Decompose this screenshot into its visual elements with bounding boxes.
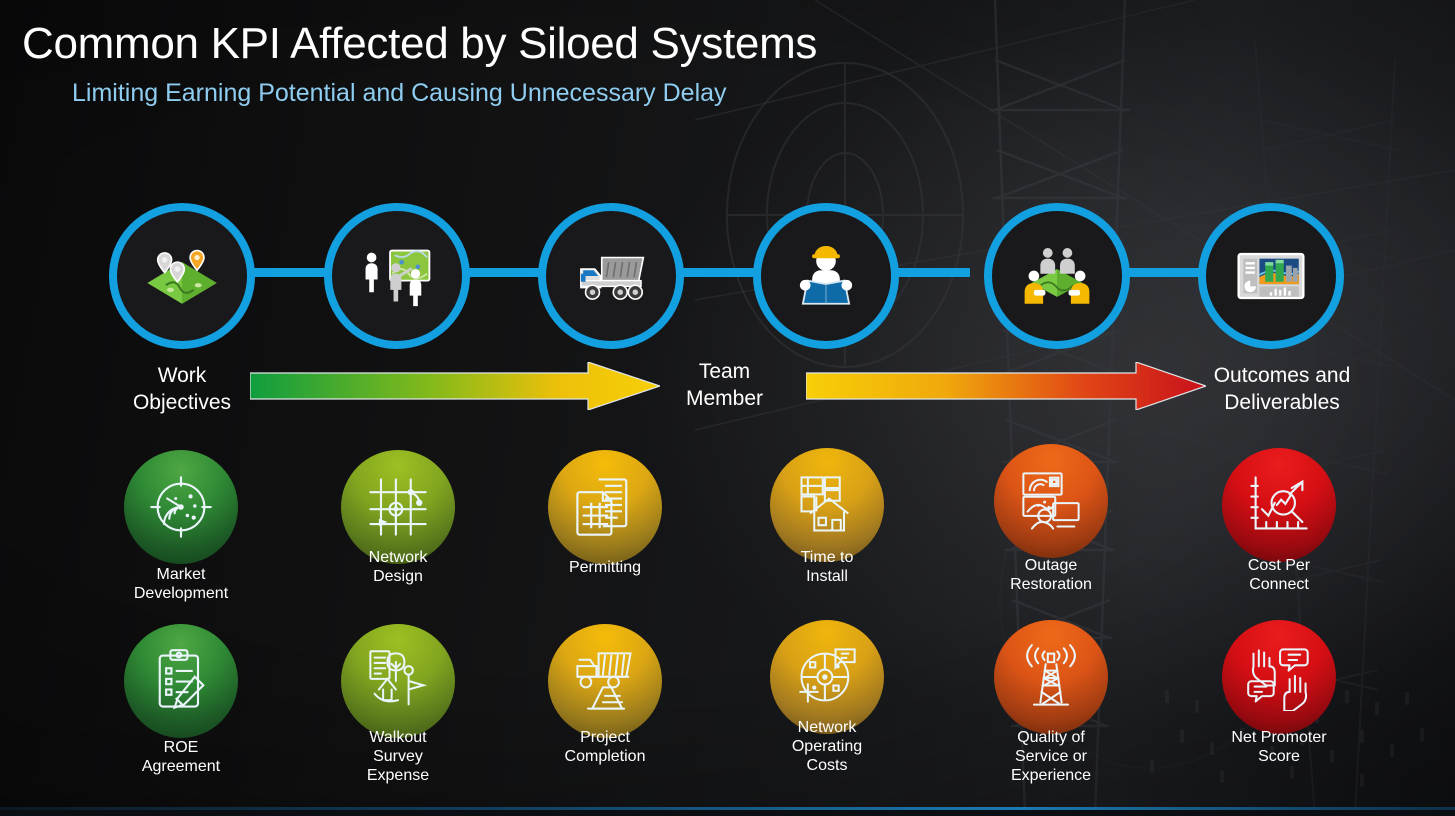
stage-label-outcomes-deliverables: Outcomes and Deliverables — [1192, 362, 1372, 416]
kpi-label-walkout-survey-expense: Walkout Survey Expense — [303, 728, 493, 785]
process-node-field-team[interactable] — [324, 203, 470, 349]
field-team-map-icon — [360, 239, 434, 313]
stage-label-work-objectives: Work Objectives — [107, 362, 257, 416]
kpi-roe-agreement[interactable] — [124, 624, 238, 738]
chain-connector-1 — [246, 268, 326, 277]
kpi-walkout-survey-expense[interactable] — [341, 624, 455, 738]
dump-truck-icon — [574, 239, 648, 313]
process-node-team-meeting[interactable] — [984, 203, 1130, 349]
kpi-cost-per-connect[interactable] — [1222, 448, 1336, 562]
kpi-outage-restoration[interactable] — [994, 444, 1108, 558]
process-node-dashboard-report[interactable] — [1198, 203, 1344, 349]
kpi-network-operating-costs[interactable] — [770, 620, 884, 734]
kpi-label-roe-agreement: ROE Agreement — [86, 738, 276, 776]
monitoring-screens-icon — [1017, 467, 1085, 535]
documents-stack-icon — [571, 473, 639, 541]
kpi-label-quality-of-service: Quality of Service or Experience — [956, 728, 1146, 785]
truck-cone-icon — [571, 647, 639, 715]
kpi-label-time-to-install: Time to Install — [732, 548, 922, 586]
kpi-time-to-install[interactable] — [770, 448, 884, 562]
arrow-yellow-to-red — [806, 362, 1206, 410]
kpi-market-development[interactable] — [124, 450, 238, 564]
kpi-label-market-development: Market Development — [86, 565, 276, 603]
clipboard-pen-icon — [147, 647, 215, 715]
chain-connector-4 — [890, 268, 970, 277]
arrow-green-to-yellow — [250, 362, 660, 410]
kpi-net-promoter-score[interactable] — [1222, 620, 1336, 734]
kpi-label-outage-restoration: Outage Restoration — [956, 556, 1146, 594]
kpi-label-network-operating-costs: Network Operating Costs — [732, 718, 922, 775]
kpi-label-net-promoter-score: Net Promoter Score — [1184, 728, 1374, 766]
process-chain — [0, 196, 1455, 356]
cell-tower-icon — [1017, 643, 1085, 711]
header: Common KPI Affected by Siloed Systems Li… — [22, 16, 817, 110]
worker-document-icon — [789, 239, 863, 313]
kpi-label-permitting: Permitting — [510, 558, 700, 577]
process-node-map-pins[interactable] — [109, 203, 255, 349]
radar-target-icon — [147, 473, 215, 541]
map-pins-icon — [145, 239, 219, 313]
chain-connector-3 — [676, 268, 756, 277]
survey-pole-icon — [364, 647, 432, 715]
kpi-quality-of-service[interactable] — [994, 620, 1108, 734]
house-parcel-icon — [793, 471, 861, 539]
kpi-permitting[interactable] — [548, 450, 662, 564]
kpi-network-design[interactable] — [341, 450, 455, 564]
network-grid-icon — [364, 473, 432, 541]
kpi-label-cost-per-connect: Cost Per Connect — [1184, 556, 1374, 594]
chain-connector-5 — [1120, 268, 1200, 277]
hands-feedback-icon — [1245, 643, 1313, 711]
footer-band — [0, 810, 1455, 816]
slide-canvas: Common KPI Affected by Siloed Systems Li… — [0, 0, 1455, 816]
kpi-project-completion[interactable] — [548, 624, 662, 738]
stage-label-team-member: Team Member — [652, 358, 797, 412]
chain-connector-2 — [460, 268, 540, 277]
process-node-dump-truck[interactable] — [538, 203, 684, 349]
dashboard-report-icon — [1234, 239, 1308, 313]
chart-magnifier-icon — [1245, 471, 1313, 539]
network-ops-dial-icon — [793, 643, 861, 711]
page-title: Common KPI Affected by Siloed Systems — [22, 16, 817, 72]
kpi-label-network-design: Network Design — [303, 548, 493, 586]
page-subtitle: Limiting Earning Potential and Causing U… — [72, 76, 817, 110]
team-meeting-icon — [1020, 239, 1094, 313]
kpi-label-project-completion: Project Completion — [510, 728, 700, 766]
process-node-worker-document[interactable] — [753, 203, 899, 349]
